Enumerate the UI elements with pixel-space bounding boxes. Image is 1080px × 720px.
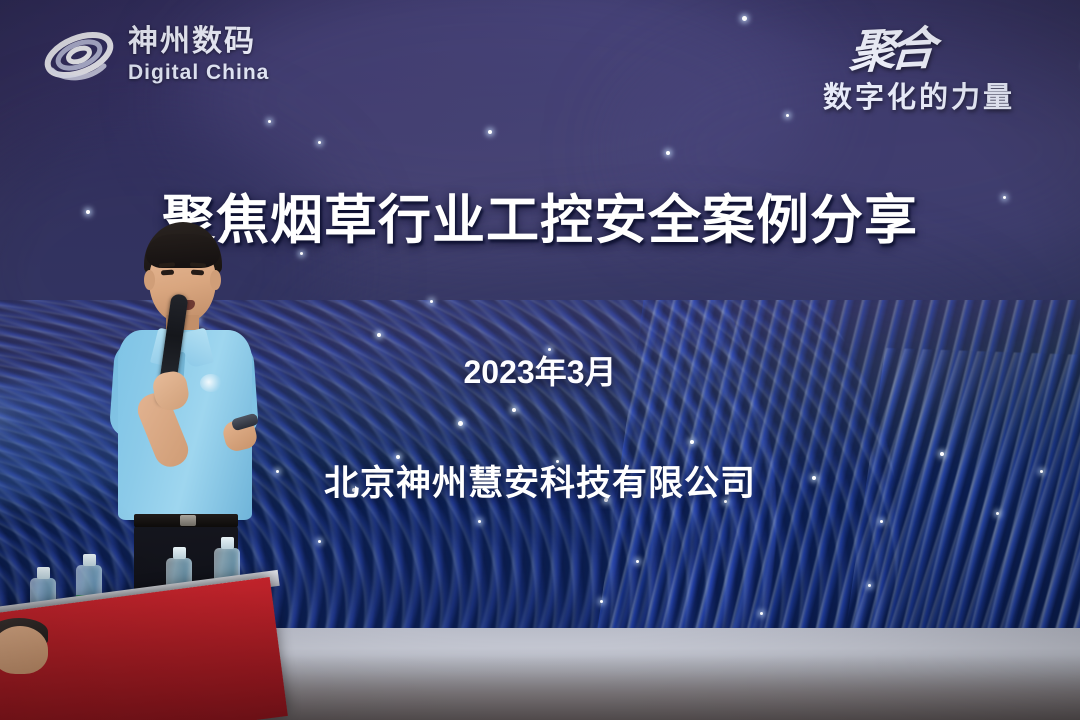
stage-photo: 神州数码 Digital China 聚合 数字化的力量 聚焦烟草行业工控安全案… <box>0 0 1080 720</box>
bottle-cap <box>221 537 234 549</box>
speaker-hair-front <box>146 234 220 268</box>
audience-member <box>0 626 48 674</box>
light-particle <box>742 16 747 21</box>
digital-china-logo: 神州数码 Digital China <box>42 22 269 88</box>
swirl-logo-icon <box>42 22 116 88</box>
bottle-cap <box>173 547 186 559</box>
belt-buckle <box>180 515 196 526</box>
event-theme-logo: 聚合 数字化的力量 <box>784 14 1054 116</box>
speaker-ear-right <box>210 270 221 290</box>
theme-calligraphy: 聚合 <box>847 12 932 82</box>
brand-name-en: Digital China <box>128 62 269 83</box>
light-particle <box>318 141 321 144</box>
speaker-ear-left <box>144 270 155 290</box>
light-particle <box>488 130 492 134</box>
shirt-chest-logo-icon <box>200 374 222 392</box>
speaker-eye-right <box>191 270 204 276</box>
speaker-eye-left <box>161 270 174 276</box>
theme-subtitle: 数字化的力量 <box>784 74 1054 116</box>
bottle-cap <box>83 554 96 566</box>
light-particle <box>268 120 271 123</box>
brand-name-cn: 神州数码 <box>128 27 269 57</box>
bottle-cap <box>37 567 50 579</box>
digital-china-wordmark: 神州数码 Digital China <box>128 27 269 83</box>
light-particle <box>666 151 670 155</box>
